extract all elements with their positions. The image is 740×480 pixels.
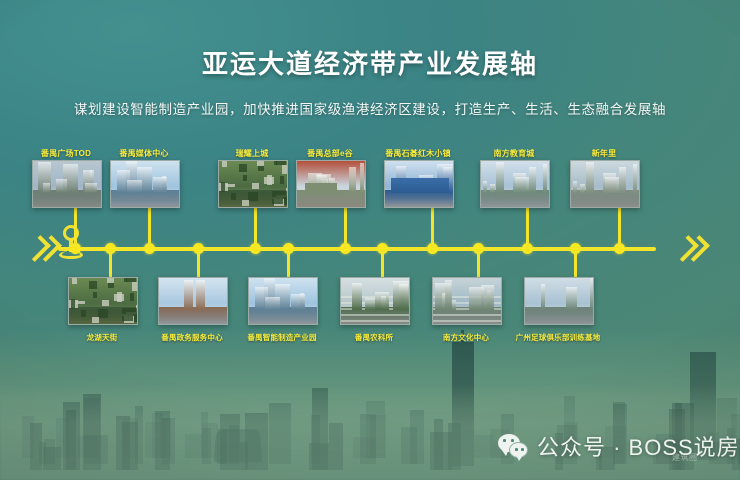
thumbnail-blue-hall-top-4[interactable]: [384, 160, 454, 208]
timeline-connector-top-3: [344, 206, 347, 249]
thumbnail-stadium-bottom-5[interactable]: [524, 277, 594, 325]
timeline-connector-top-5: [526, 206, 529, 249]
timeline-connector-bottom-0: [109, 249, 112, 277]
thumbnail-twin-tower-bottom-1[interactable]: [158, 277, 228, 325]
thumbnail-road-sign-bottom-3[interactable]: [340, 277, 410, 325]
node-label-top-6: 新年里: [544, 148, 664, 159]
thumbnail-office-tower-top-1[interactable]: [110, 160, 180, 208]
timeline-connector-bottom-2: [287, 249, 290, 277]
thumbnail-campus-top-5[interactable]: [480, 160, 550, 208]
thumbnail-city-plaza-top-0[interactable]: [32, 160, 102, 208]
page-subtitle: 谋划建设智能制造产业园，加快推进国家级渔港经济区建设，打造生产、生活、生态融合发…: [0, 98, 740, 118]
right-chevron-icon: [678, 232, 708, 262]
timeline-connector-bottom-1: [197, 249, 200, 277]
thumbnail-aerial-green-bottom-0[interactable]: [68, 277, 138, 325]
page-title: 亚运大道经济带产业发展轴: [0, 44, 740, 81]
thumbnail-street-top-6[interactable]: [570, 160, 640, 208]
watermark: 公众号 · BOSS说房: [498, 430, 740, 462]
watermark-subtext: 建筑圈: [672, 452, 698, 463]
watermark-text: 公众号 · BOSS说房: [537, 430, 740, 462]
poster-canvas: 亚运大道经济带产业发展轴 谋划建设智能制造产业园，加快推进国家级渔港经济区建设，…: [0, 0, 740, 480]
left-chevron-icon: [30, 232, 60, 262]
timeline-connector-bottom-3: [381, 249, 384, 277]
node-label-bottom-5: 广州足球俱乐部训练基地: [494, 332, 622, 343]
timeline-connector-bottom-5: [574, 249, 577, 277]
timeline-connector-top-6: [618, 206, 621, 249]
wechat-icon: [498, 434, 528, 458]
thumbnail-aerial-green-top-2[interactable]: [218, 160, 288, 208]
timeline-connector-top-4: [431, 206, 434, 249]
node-label-top-1: 番禺媒体中心: [84, 148, 204, 159]
thumbnail-interchange-bottom-4[interactable]: [432, 277, 502, 325]
timeline-connector-top-0: [74, 206, 77, 249]
timeline-connector-top-2: [254, 206, 257, 249]
thumbnail-office-tower-bottom-2[interactable]: [248, 277, 318, 325]
location-pin-icon: [58, 225, 84, 259]
timeline-connector-top-1: [148, 206, 151, 249]
timeline-connector-bottom-4: [477, 249, 480, 277]
thumbnail-red-roof-top-3[interactable]: [296, 160, 366, 208]
